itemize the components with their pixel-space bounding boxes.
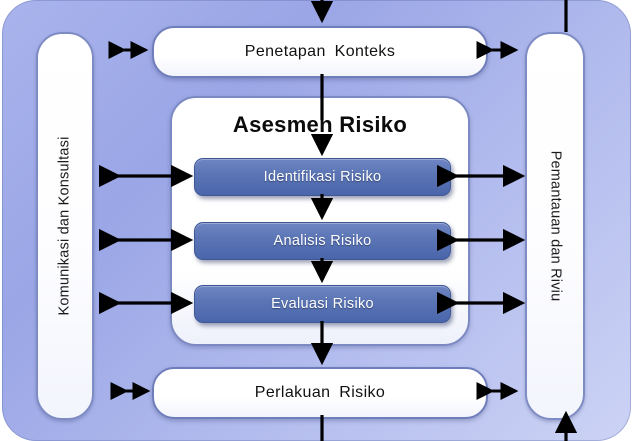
step-analisis-risiko[interactable]: Analisis Risiko <box>194 222 451 260</box>
lane-pemantauan-dan-riviu[interactable]: Pemantauan dan Riviu <box>525 32 585 420</box>
step-evaluasi-risiko[interactable]: Evaluasi Risiko <box>194 285 451 323</box>
stage-penetapan-konteks-label: Penetapan Konteks <box>245 43 395 61</box>
step-identifikasi-risiko[interactable]: Identifikasi Risiko <box>194 158 451 196</box>
stage-penetapan-konteks[interactable]: Penetapan Konteks <box>152 26 488 78</box>
stage-perlakuan-risiko-label: Perlakuan Risiko <box>255 384 385 402</box>
step-analisis-risiko-label: Analisis Risiko <box>274 233 372 249</box>
step-identifikasi-risiko-label: Identifikasi Risiko <box>264 169 382 185</box>
assessment-title: Asesmen Risiko <box>172 112 468 138</box>
risk-management-diagram: Komunikasi dan Konsultasi Pemantauan dan… <box>0 0 635 441</box>
lane-komunikasi-dan-konsultasi[interactable]: Komunikasi dan Konsultasi <box>36 32 94 420</box>
lane-left-label: Komunikasi dan Konsultasi <box>57 136 73 315</box>
lane-right-label: Pemantauan dan Riviu <box>547 151 563 302</box>
step-evaluasi-risiko-label: Evaluasi Risiko <box>271 296 374 312</box>
stage-perlakuan-risiko[interactable]: Perlakuan Risiko <box>152 367 488 419</box>
